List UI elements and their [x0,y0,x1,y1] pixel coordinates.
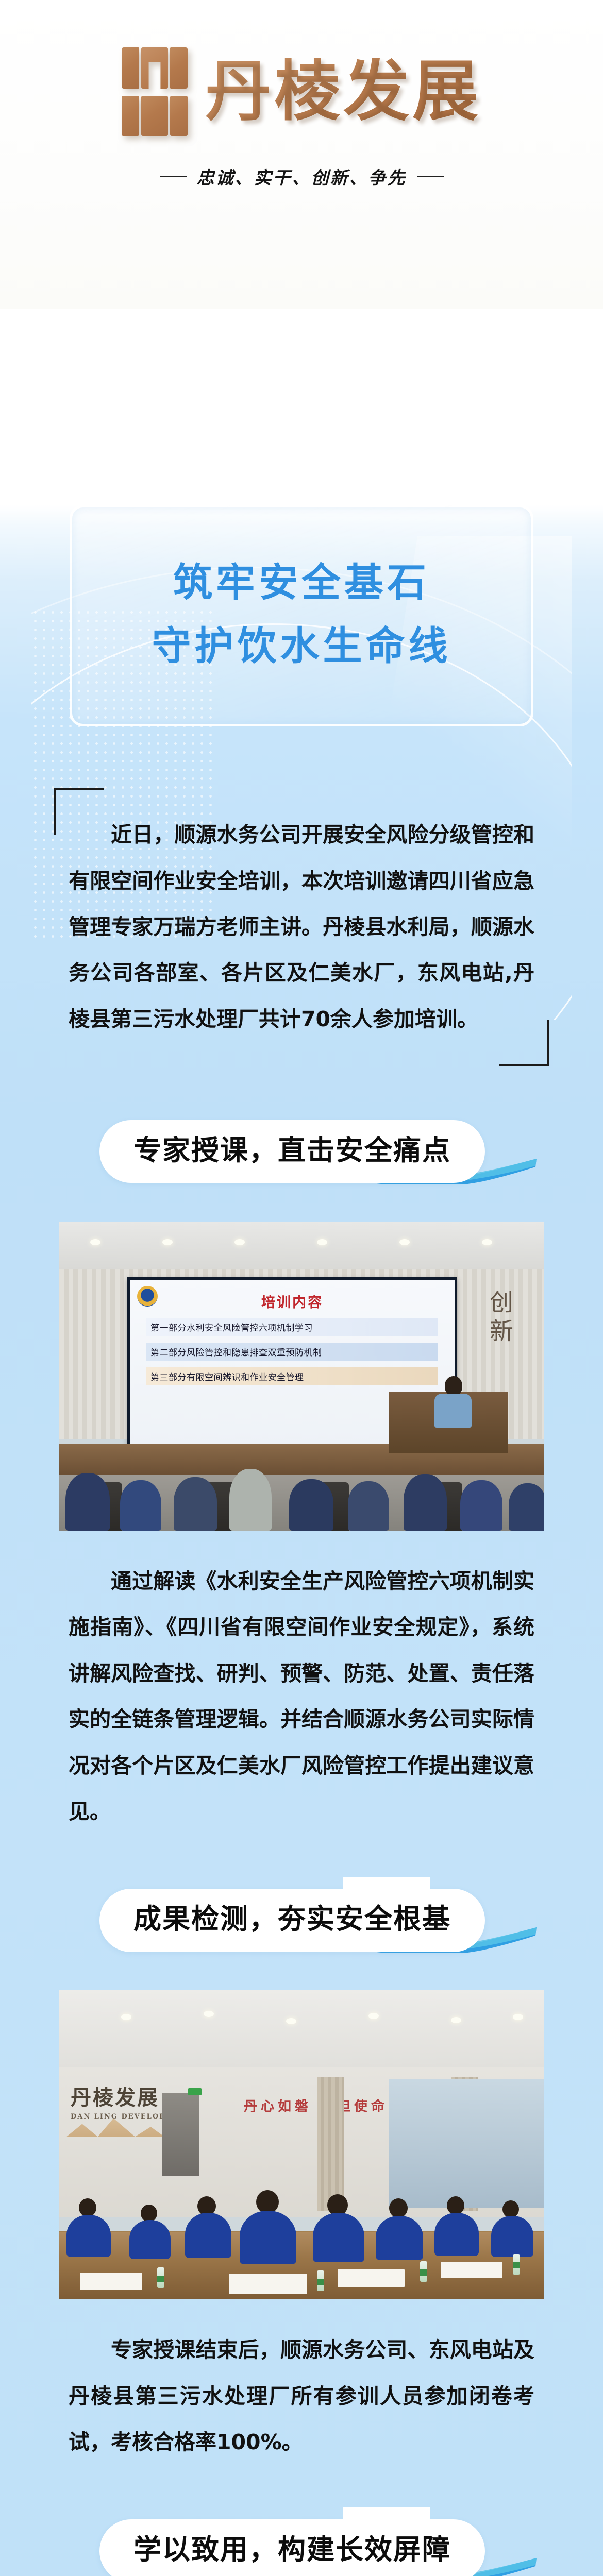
section-heading-2: 成果检测，夯实安全根基 [54,1879,549,1961]
closed-book-exam-photo: 丹棱发展 DAN LING DEVELOPMENT 丹心如磐 勇担使命 [59,1990,544,2299]
slide-bullet: 第二部分风险管控和隐患排查双重预防机制 [146,1343,438,1361]
exit-sign-icon [188,2088,202,2095]
slide-bullet: 第一部分水利安全风险管控六项机制学习 [146,1318,438,1336]
wall-slogan: 丹心如磐 勇担使命 [244,2096,388,2115]
pill-notch-3 [343,2507,430,2525]
title-card: 筑牢安全基石 守护饮水生命线 [70,505,533,726]
pill-notch-2 [343,1877,430,1894]
section-heading-1: 专家授课，直击安全痛点 [54,1110,549,1193]
wall-calligraphy: 创新 [483,1290,517,1347]
section-paragraph-text-2: 专家授课结束后，顺源水务公司、东风电站及丹棱县第三污水处理厂所有参训人员参加闭卷… [63,2327,540,2465]
article-page: 丹棱发展 忠诚、实干、创新、争先 筑牢安全基石 守护饮水生命线 近日，顺源水务公… [0,0,603,2576]
section-heading-pill-3: 学以致用，构建长效屏障 [99,2519,485,2576]
audience-group [59,1428,544,1531]
brand-name: 丹棱发展 [205,58,481,124]
article-body: 筑牢安全基石 守护饮水生命线 近日，顺源水务公司开展安全风险分级管控和有限空间作… [0,505,603,2576]
section-heading-pill-2: 成果检测，夯实安全根基 [99,1889,485,1952]
tagline-dash-right [417,176,444,177]
section-heading-pill-1: 专家授课，直击安全痛点 [99,1120,485,1183]
training-lecture-photo: 培训内容 第一部分水利安全风险管控六项机制学习 第二部分风险管控和隐患排查双重预… [59,1222,544,1531]
title-line-2: 守护饮水生命线 [93,614,510,677]
brand-row: 丹棱发展 [122,47,481,135]
section-paragraph-text-1: 通过解读《水利安全生产风险管控六项机制实施指南》、《四川省有限空间作业安全规定》… [63,1558,540,1835]
slide-bullet: 第三部分有限空间辨识和作业安全管理 [146,1367,438,1385]
emblem-icon [137,1286,158,1307]
slide-title: 培训内容 [135,1291,449,1311]
brand-header: 丹棱发展 忠诚、实干、创新、争先 [0,0,603,309]
section-paragraph-block-1: 通过解读《水利安全生产风险管控六项机制实施指南》、《四川省有限空间作业安全规定》… [54,1558,549,1835]
section-heading-text-2: 成果检测，夯实安全根基 [133,1904,451,1934]
tagline-text: 忠诚、实干、创新、争先 [197,164,407,189]
section-paragraph-block-2: 专家授课结束后，顺源水务公司、东风电站及丹棱县第三污水处理厂所有参训人员参加闭卷… [54,2327,549,2465]
section-heading-3: 学以致用，构建长效屏障 [54,2510,549,2576]
brick-window-logo-icon [122,47,188,135]
tagline-dash-left [160,176,187,177]
brand-tagline: 忠诚、实干、创新、争先 [160,164,444,189]
intro-paragraph-block: 近日，顺源水务公司开展安全风险分级管控和有限空间作业安全培训，本次培训邀请四川省… [54,788,549,1066]
section-heading-text-3: 学以致用，构建长效屏障 [133,2535,451,2565]
intro-paragraph-text: 近日，顺源水务公司开展安全风险分级管控和有限空间作业安全培训，本次培训邀请四川省… [63,812,540,1042]
exam-seating [59,2181,544,2299]
section-heading-text-1: 专家授课，直击安全痛点 [133,1136,451,1165]
title-line-1: 筑牢安全基石 [93,551,510,614]
speaker-figure [445,1376,462,1396]
